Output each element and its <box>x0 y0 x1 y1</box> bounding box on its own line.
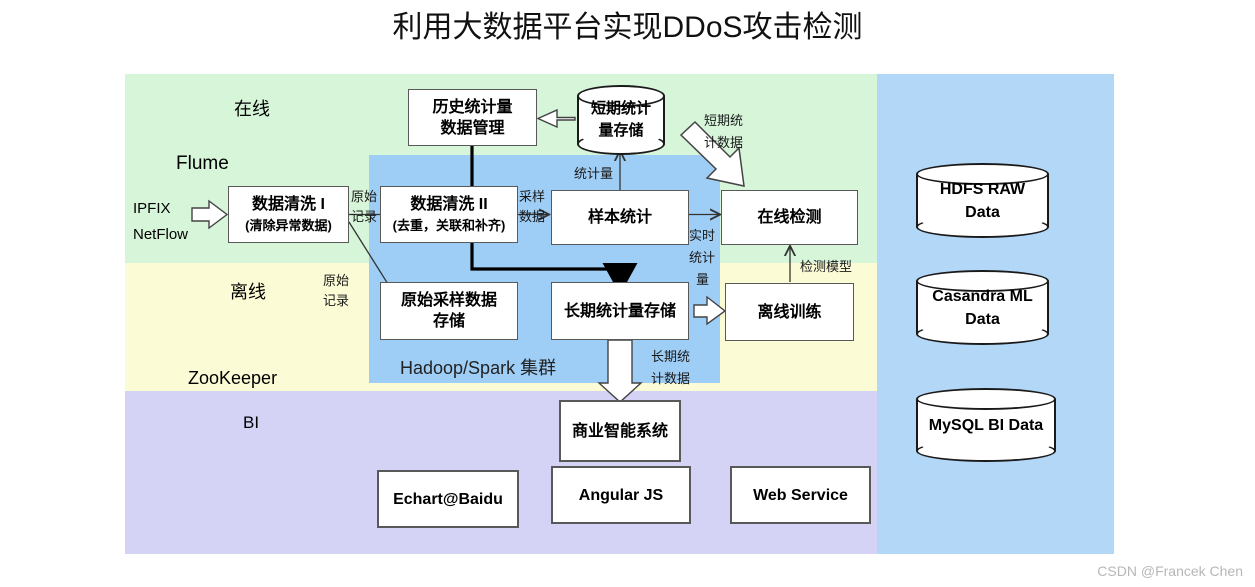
band-label-online: 在线 <box>234 95 270 121</box>
edge-label-detect-model: 检测模型 <box>800 258 852 275</box>
box-data-cleaning-2-title: 数据清洗 II <box>410 194 487 215</box>
band-label-bi: BI <box>243 413 259 433</box>
edge-label-realtime-3: 量 <box>696 271 709 288</box>
edge-label-raw-record-bottom-2: 记录 <box>323 292 349 309</box>
cylinder-mysql-label: MySQL BI Data <box>916 388 1056 462</box>
cylinder-hdfs-line1: HDFS RAW <box>940 178 1025 201</box>
input-label-netflow: NetFlow <box>133 226 188 243</box>
box-raw-sample-line1: 原始采样数据 <box>401 290 497 311</box>
cylinder-casandra-label: Casandra ML Data <box>916 270 1049 345</box>
edge-label-sampled-1: 采样 <box>519 188 545 205</box>
box-bi-system-label: 商业智能系统 <box>572 421 668 442</box>
box-data-cleaning-1-sub: (清除异常数据) <box>245 217 332 235</box>
box-offline-training-label: 离线训练 <box>757 302 821 323</box>
edge-label-raw-record-top-2: 记录 <box>351 208 377 225</box>
box-web-service[interactable]: Web Service <box>730 466 871 524</box>
cylinder-mysql-line1: MySQL BI Data <box>929 414 1043 437</box>
cylinder-hdfs-raw-data[interactable]: HDFS RAW Data <box>916 163 1049 238</box>
edge-label-shortterm-2: 计数据 <box>704 134 743 151</box>
box-raw-sample-storage[interactable]: 原始采样数据 存储 <box>380 282 518 340</box>
cylinder-casandra-line2: Data <box>965 308 1000 331</box>
edge-label-longterm-1: 长期统 <box>651 348 690 365</box>
diagram-canvas: 利用大数据平台实现DDoS攻击检测 在线 Flume IPFIX NetFlow… <box>0 0 1255 587</box>
edge-label-raw-record-bottom-1: 原始 <box>323 272 349 289</box>
box-echart[interactable]: Echart@Baidu <box>377 470 519 528</box>
cluster-label: Hadoop/Spark 集群 <box>400 354 556 380</box>
box-sample-statistics-label: 样本统计 <box>588 207 652 228</box>
box-history-stat-management[interactable]: 历史统计量 数据管理 <box>408 89 537 146</box>
box-sample-statistics[interactable]: 样本统计 <box>551 190 689 245</box>
cylinder-casandra-ml-data[interactable]: Casandra ML Data <box>916 270 1049 345</box>
band-label-flume: Flume <box>176 153 229 175</box>
cylinder-hdfs-label: HDFS RAW Data <box>916 163 1049 238</box>
edge-label-realtime-1: 实时 <box>689 227 715 244</box>
band-label-zookeeper: ZooKeeper <box>188 368 277 389</box>
cylinder-short-term-line1: 短期统计 <box>591 98 651 120</box>
box-web-service-label: Web Service <box>753 485 848 506</box>
cylinder-short-term-label: 短期统计 量存储 <box>577 85 665 155</box>
band-label-offline: 离线 <box>230 278 266 304</box>
cylinder-short-term-stat-storage[interactable]: 短期统计 量存储 <box>577 85 665 155</box>
edge-label-longterm-2: 计数据 <box>651 370 690 387</box>
box-echart-label: Echart@Baidu <box>393 489 503 510</box>
box-data-cleaning-1-title: 数据清洗 I <box>252 194 325 215</box>
box-data-cleaning-2[interactable]: 数据清洗 II (去重，关联和补齐) <box>380 186 518 243</box>
box-online-detection[interactable]: 在线检测 <box>721 190 858 245</box>
box-angular-js-label: Angular JS <box>579 485 663 506</box>
box-history-stat-line2: 数据管理 <box>440 118 504 139</box>
edge-label-raw-record-top-1: 原始 <box>351 188 377 205</box>
edge-label-shortterm-1: 短期统 <box>704 112 743 129</box>
input-label-ipfix: IPFIX <box>133 200 171 217</box>
box-data-cleaning-1[interactable]: 数据清洗 I (清除异常数据) <box>228 186 349 243</box>
box-offline-training[interactable]: 离线训练 <box>725 283 854 341</box>
page-title: 利用大数据平台实现DDoS攻击检测 <box>0 8 1255 48</box>
edge-label-realtime-2: 统计 <box>689 249 715 266</box>
box-longterm-stat-storage[interactable]: 长期统计量存储 <box>551 282 689 340</box>
box-raw-sample-line2: 存储 <box>433 311 465 332</box>
box-history-stat-line1: 历史统计量 <box>432 97 512 118</box>
box-online-detection-label: 在线检测 <box>757 207 821 228</box>
box-data-cleaning-2-sub: (去重，关联和补齐) <box>393 217 506 235</box>
watermark: CSDN @Francek Chen <box>1097 563 1243 579</box>
edge-label-stat-value: 统计量 <box>574 165 613 182</box>
box-angular-js[interactable]: Angular JS <box>551 466 691 524</box>
cylinder-mysql-bi-data[interactable]: MySQL BI Data <box>916 388 1056 462</box>
box-bi-system[interactable]: 商业智能系统 <box>559 400 681 462</box>
edge-label-sampled-2: 数据 <box>519 208 545 225</box>
cylinder-short-term-line2: 量存储 <box>598 120 643 142</box>
cylinder-casandra-line1: Casandra ML <box>932 285 1032 308</box>
box-longterm-stat-label: 长期统计量存储 <box>564 301 676 322</box>
cylinder-hdfs-line2: Data <box>965 201 1000 224</box>
